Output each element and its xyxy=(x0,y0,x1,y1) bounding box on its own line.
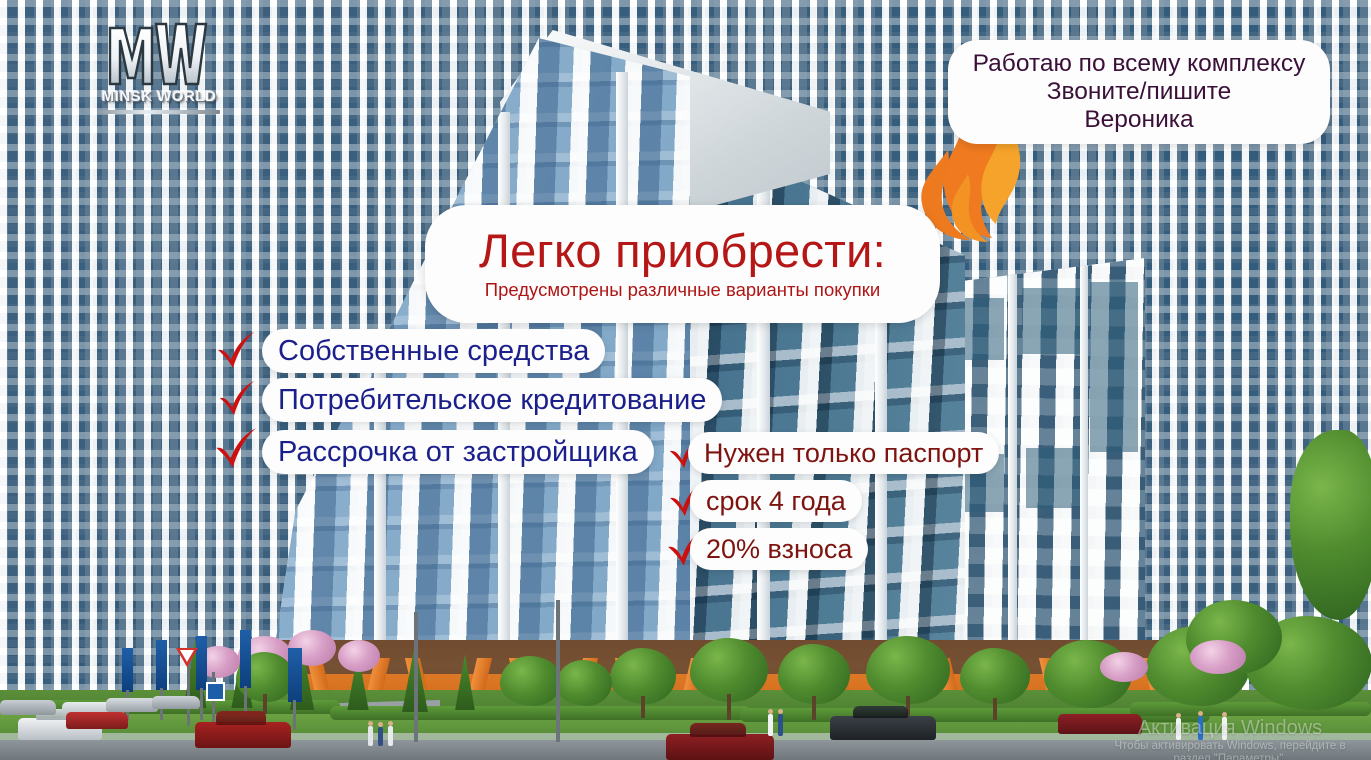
page-title: Легко приобрести: xyxy=(479,227,886,274)
tree xyxy=(556,660,612,706)
car xyxy=(1058,714,1142,734)
blossom-tree xyxy=(338,640,380,672)
crosswalk-sign-icon xyxy=(206,682,225,701)
check-mark-icon xyxy=(214,330,256,372)
payment-option-label: Рассрочка от застройщика xyxy=(278,436,638,469)
brand-logo: MINSK WORLD xyxy=(96,18,222,114)
tree xyxy=(500,656,562,706)
street-banner xyxy=(240,630,251,688)
person xyxy=(768,714,773,736)
check-mark-icon xyxy=(216,379,256,419)
payment-option-label: Потребительское кредитование xyxy=(278,384,706,417)
blossom-tree xyxy=(1100,652,1148,682)
check-mark-icon xyxy=(212,426,258,472)
installment-term-pill[interactable]: 20% взноса xyxy=(690,528,868,570)
blossom-tree xyxy=(1190,640,1246,674)
payment-option-pill[interactable]: Потребительское кредитование xyxy=(262,378,722,422)
building-far-slab xyxy=(0,160,58,550)
tree xyxy=(960,648,1030,704)
person xyxy=(368,726,373,746)
street-banner xyxy=(122,648,133,692)
mw-monogram-icon xyxy=(104,18,212,88)
car xyxy=(666,734,774,760)
installment-term-label: срок 4 года xyxy=(706,486,846,517)
car xyxy=(66,712,128,729)
payment-option-pill[interactable]: Собственные средства xyxy=(262,329,605,373)
installment-term-label: Нужен только паспорт xyxy=(704,438,983,469)
street-banner xyxy=(156,640,167,690)
tree xyxy=(866,636,950,704)
contact-line-3: Вероника xyxy=(1084,106,1193,134)
person xyxy=(1222,717,1227,740)
yield-sign-icon xyxy=(176,648,198,667)
installment-term-label: 20% взноса xyxy=(706,534,852,565)
payment-option-pill[interactable]: Рассрочка от застройщика xyxy=(262,430,654,474)
main-callout-bubble: Легко приобрести: Предусмотрены различны… xyxy=(425,205,940,323)
car xyxy=(830,716,936,740)
car xyxy=(152,696,200,709)
page-subtitle: Предусмотрены различные варианты покупки xyxy=(485,279,880,301)
contact-line-2: Звоните/пишите xyxy=(1047,78,1232,106)
person xyxy=(378,727,383,746)
car xyxy=(106,698,158,712)
person xyxy=(1176,718,1181,740)
car xyxy=(195,722,291,748)
street-banner xyxy=(288,648,302,702)
brand-name: MINSK WORLD xyxy=(96,88,222,105)
promo-image: MINSK WORLD Работаю по всему комплексу З… xyxy=(0,0,1371,760)
contact-callout-bubble[interactable]: Работаю по всему комплексу Звоните/пишит… xyxy=(948,40,1330,144)
contact-line-1: Работаю по всему комплексу xyxy=(973,50,1306,78)
payment-option-label: Собственные средства xyxy=(278,335,589,368)
installment-term-pill[interactable]: срок 4 года xyxy=(690,480,862,522)
tree xyxy=(690,638,768,702)
person xyxy=(1198,716,1203,740)
tree xyxy=(778,644,850,704)
car xyxy=(0,700,56,715)
person xyxy=(388,726,393,746)
person xyxy=(778,714,783,736)
installment-term-pill[interactable]: Нужен только паспорт xyxy=(688,432,999,474)
logo-underline xyxy=(98,110,220,114)
